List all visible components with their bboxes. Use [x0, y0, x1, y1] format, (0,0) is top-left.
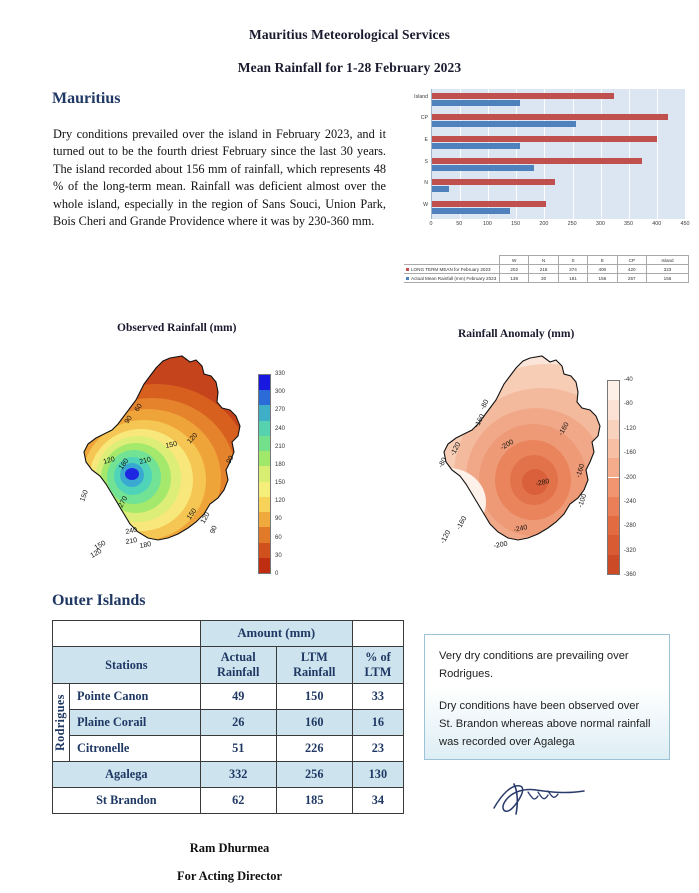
- oi-pct-value: 130: [352, 762, 403, 788]
- chart-table-cell: 202: [500, 265, 529, 274]
- chart-category-label: E: [425, 137, 428, 143]
- signatory-name: Ram Dhurmea: [0, 841, 579, 856]
- observed-contour-fill: [78, 352, 278, 582]
- observed-map-svg: 150 120 90 120 180 210 270 240 210 180 1…: [78, 352, 278, 582]
- chart-table-col-header: CP: [617, 256, 646, 265]
- chart-gridline: [685, 89, 686, 219]
- rainfall-bar-chart: IslandCPESNW 050100150200250300350400450: [404, 86, 689, 241]
- colorbar-tick-label: 180: [275, 462, 285, 468]
- svg-text:180: 180: [139, 541, 152, 550]
- svg-text:120: 120: [90, 548, 104, 560]
- oi-station-name: Citronelle: [70, 736, 201, 762]
- observed-colorbar-strip: [258, 374, 271, 574]
- colorbar-segment: [608, 420, 619, 439]
- bar-actual: [432, 121, 576, 127]
- colorbar-tick-label: -360: [624, 572, 636, 578]
- document-subtitle: Mean Rainfall for 1-28 February 2023: [0, 60, 699, 76]
- chart-category-label: N: [424, 180, 428, 186]
- colorbar-tick-label: 210: [275, 444, 285, 450]
- note-paragraph-1: Very dry conditions are prevailing over …: [439, 647, 655, 683]
- bar-ltm: [432, 179, 555, 185]
- outer-islands-heading: Outer Islands: [52, 592, 146, 610]
- chart-table-cell: 400: [588, 265, 617, 274]
- colorbar-tick-label: -280: [624, 523, 636, 529]
- chart-plot-area: IslandCPESNW: [431, 89, 685, 219]
- oi-actual-value: 49: [200, 684, 276, 710]
- chart-table-cell: 30: [529, 274, 558, 283]
- oi-actual-header: ActualRainfall: [200, 647, 276, 684]
- chart-category-label: CP: [421, 115, 428, 121]
- colorbar-segment: [608, 381, 619, 400]
- chart-table-row: LONG TERM MEAN for February 202320221837…: [404, 265, 689, 274]
- colorbar-tick-label: -40: [624, 377, 633, 383]
- chart-x-tick: 0: [430, 221, 433, 227]
- chart-x-tick: 300: [596, 221, 605, 227]
- mauritius-paragraph: Dry conditions prevailed over the island…: [53, 126, 386, 230]
- colorbar-tick-label: -80: [624, 401, 633, 407]
- oi-station-name: Pointe Canon: [70, 684, 201, 710]
- chart-table-col-header: N: [529, 256, 558, 265]
- oi-station-name: Agalega: [53, 762, 201, 788]
- oi-amount-header: Amount (mm): [200, 621, 352, 647]
- chart-table-cell: 374: [558, 265, 587, 274]
- chart-category-label: S: [425, 159, 428, 165]
- bar-actual: [432, 208, 510, 214]
- signature-image: [488, 778, 598, 820]
- outer-islands-table: Amount (mm) StationsActualRainfallLTMRai…: [52, 620, 404, 814]
- oi-group-label-rodrigues: Rodrigues: [53, 684, 70, 762]
- colorbar-segment: [608, 555, 619, 574]
- colorbar-segment: [608, 400, 619, 419]
- chart-category-label: W: [423, 202, 428, 208]
- chart-table-row: Actual Mean Rainfall (mm) February 20231…: [404, 274, 689, 283]
- oi-ltm-value: 150: [276, 684, 352, 710]
- oi-table-row: Agalega332256130: [53, 762, 404, 788]
- chart-category-row: E: [432, 135, 685, 157]
- chart-x-tick: 200: [539, 221, 548, 227]
- document-title: Mauritius Meteorological Services: [0, 27, 699, 43]
- chart-table-cell: 323: [646, 265, 688, 274]
- colorbar-segment: [608, 439, 619, 458]
- chart-x-tick: 50: [456, 221, 462, 227]
- chart-category-label: Island: [414, 94, 428, 100]
- outer-islands-note: Very dry conditions are prevailing over …: [424, 634, 670, 760]
- colorbar-segment: [259, 421, 270, 436]
- colorbar-segment: [259, 466, 270, 481]
- colorbar-segment: [259, 558, 270, 573]
- colorbar-segment: [259, 527, 270, 542]
- colorbar-segment: [259, 390, 270, 405]
- colorbar-tick-label: 300: [275, 389, 285, 395]
- oi-header-row-1: Amount (mm): [53, 621, 404, 647]
- chart-x-tick: 400: [652, 221, 661, 227]
- oi-actual-value: 62: [200, 788, 276, 814]
- oi-pct-value: 16: [352, 710, 403, 736]
- oi-table-row: St Brandon6218534: [53, 788, 404, 814]
- svg-text:-160: -160: [456, 515, 469, 531]
- chart-legend-label: Actual Mean Rainfall (mm) February 2023: [404, 274, 500, 283]
- oi-table-row: Plaine Corail2616016: [53, 710, 404, 736]
- colorbar-segment: [259, 375, 270, 390]
- oi-pct-value: 23: [352, 736, 403, 762]
- chart-table-col-header: Island: [646, 256, 688, 265]
- oi-table-row: RodriguesPointe Canon4915033: [53, 684, 404, 710]
- colorbar-segment: [608, 458, 619, 477]
- chart-table-cell: 156: [588, 274, 617, 283]
- oi-station-name: Plaine Corail: [70, 710, 201, 736]
- bar-actual: [432, 186, 449, 192]
- signatory-role: For Acting Director: [0, 869, 579, 884]
- colorbar-tick-label: -160: [624, 450, 636, 456]
- chart-table-col-header: E: [588, 256, 617, 265]
- bar-actual: [432, 165, 534, 171]
- legend-swatch-icon: [406, 277, 409, 280]
- chart-category-row: CP: [432, 113, 685, 135]
- chart-data-table: WNSECPIslandLONG TERM MEAN for February …: [404, 255, 689, 283]
- chart-table-cell: 181: [558, 274, 587, 283]
- oi-actual-value: 26: [200, 710, 276, 736]
- bar-ltm: [432, 158, 642, 164]
- chart-table-col-header: W: [500, 256, 529, 265]
- colorbar-tick-label: -200: [624, 475, 636, 481]
- colorbar-segment: [608, 497, 619, 516]
- colorbar-segment: [259, 497, 270, 512]
- oi-blank-cell: [352, 621, 403, 647]
- colorbar-tick-label: 60: [275, 535, 282, 541]
- chart-table-corner: [404, 256, 500, 265]
- bar-actual: [432, 143, 520, 149]
- oi-pct-value: 34: [352, 788, 403, 814]
- mauritius-section-heading: Mauritius: [52, 90, 120, 108]
- colorbar-tick-label: 120: [275, 498, 285, 504]
- bar-ltm: [432, 201, 546, 207]
- svg-text:240: 240: [125, 527, 138, 536]
- colorbar-segment: [259, 512, 270, 527]
- svg-text:210: 210: [125, 537, 138, 546]
- colorbar-tick-label: 330: [275, 371, 285, 377]
- oi-ltm-value: 185: [276, 788, 352, 814]
- svg-text:90: 90: [209, 525, 218, 535]
- colorbar-tick-label: 270: [275, 407, 285, 413]
- note-paragraph-2: Dry conditions have been observed over S…: [439, 697, 655, 751]
- bar-ltm: [432, 93, 614, 99]
- chart-x-tick: 100: [483, 221, 492, 227]
- chart-x-tick: 250: [568, 221, 577, 227]
- legend-swatch-icon: [406, 268, 409, 271]
- chart-category-row: N: [432, 178, 685, 200]
- chart-x-axis: 050100150200250300350400450: [431, 221, 685, 235]
- oi-ltm-value: 226: [276, 736, 352, 762]
- oi-stations-header: Stations: [53, 647, 201, 684]
- colorbar-segment: [259, 482, 270, 497]
- oi-table-row: Citronelle5122623: [53, 736, 404, 762]
- colorbar-tick-label: -320: [624, 548, 636, 554]
- colorbar-segment: [608, 535, 619, 554]
- colorbar-tick-label: 0: [275, 571, 278, 577]
- colorbar-tick-label: 240: [275, 426, 285, 432]
- oi-pct-value: 33: [352, 684, 403, 710]
- chart-table-cell: 138: [500, 274, 529, 283]
- chart-table-col-header: S: [558, 256, 587, 265]
- colorbar-tick-label: -240: [624, 499, 636, 505]
- bar-ltm: [432, 114, 668, 120]
- chart-legend-label: LONG TERM MEAN for February 2023: [404, 265, 500, 274]
- observed-map-title: Observed Rainfall (mm): [117, 322, 236, 334]
- observed-rainfall-map: 150 120 90 120 180 210 270 240 210 180 1…: [78, 352, 278, 582]
- colorbar-tick-label: -120: [624, 426, 636, 432]
- colorbar-segment: [259, 405, 270, 420]
- oi-group-label-text: Rodrigues: [53, 684, 68, 761]
- oi-station-name: St Brandon: [53, 788, 201, 814]
- oi-actual-value: 51: [200, 736, 276, 762]
- chart-x-tick: 350: [624, 221, 633, 227]
- chart-category-row: S: [432, 157, 685, 179]
- oi-corner-cell: [53, 621, 201, 647]
- report-page: Mauritius Meteorological Services Mean R…: [0, 0, 699, 893]
- svg-text:-200: -200: [493, 541, 508, 550]
- anomaly-colorbar: -40-80-120-160-200-240-280-320-360: [607, 380, 653, 575]
- chart-category-row: Island: [432, 92, 685, 114]
- svg-text:-120: -120: [440, 529, 453, 545]
- chart-table-cell: 156: [646, 274, 688, 283]
- oi-ltm-value: 256: [276, 762, 352, 788]
- colorbar-segment: [608, 516, 619, 535]
- oi-actual-value: 332: [200, 762, 276, 788]
- colorbar-segment: [608, 478, 619, 497]
- chart-x-tick: 150: [511, 221, 520, 227]
- bar-actual: [432, 100, 520, 106]
- oi-pct-header: % ofLTM: [352, 647, 403, 684]
- chart-table-cell: 218: [529, 265, 558, 274]
- oi-ltm-header: LTMRainfall: [276, 647, 352, 684]
- colorbar-segment: [259, 436, 270, 451]
- colorbar-tick-label: 30: [275, 553, 282, 559]
- anomaly-map-title: Rainfall Anomaly (mm): [458, 328, 574, 340]
- oi-header-row-2: StationsActualRainfallLTMRainfall% ofLTM: [53, 647, 404, 684]
- svg-text:150: 150: [79, 489, 90, 502]
- bar-ltm: [432, 136, 657, 142]
- colorbar-tick-label: 150: [275, 480, 285, 486]
- colorbar-tick-label: 90: [275, 516, 282, 522]
- chart-category-row: W: [432, 200, 685, 222]
- colorbar-segment: [259, 451, 270, 466]
- oi-ltm-value: 160: [276, 710, 352, 736]
- observed-colorbar: 3303002702402101801501209060300: [258, 374, 298, 574]
- anomaly-colorbar-strip: [607, 380, 620, 575]
- chart-table-cell: 420: [617, 265, 646, 274]
- chart-x-tick: 450: [681, 221, 690, 227]
- colorbar-segment: [259, 543, 270, 558]
- chart-table-cell: 257: [617, 274, 646, 283]
